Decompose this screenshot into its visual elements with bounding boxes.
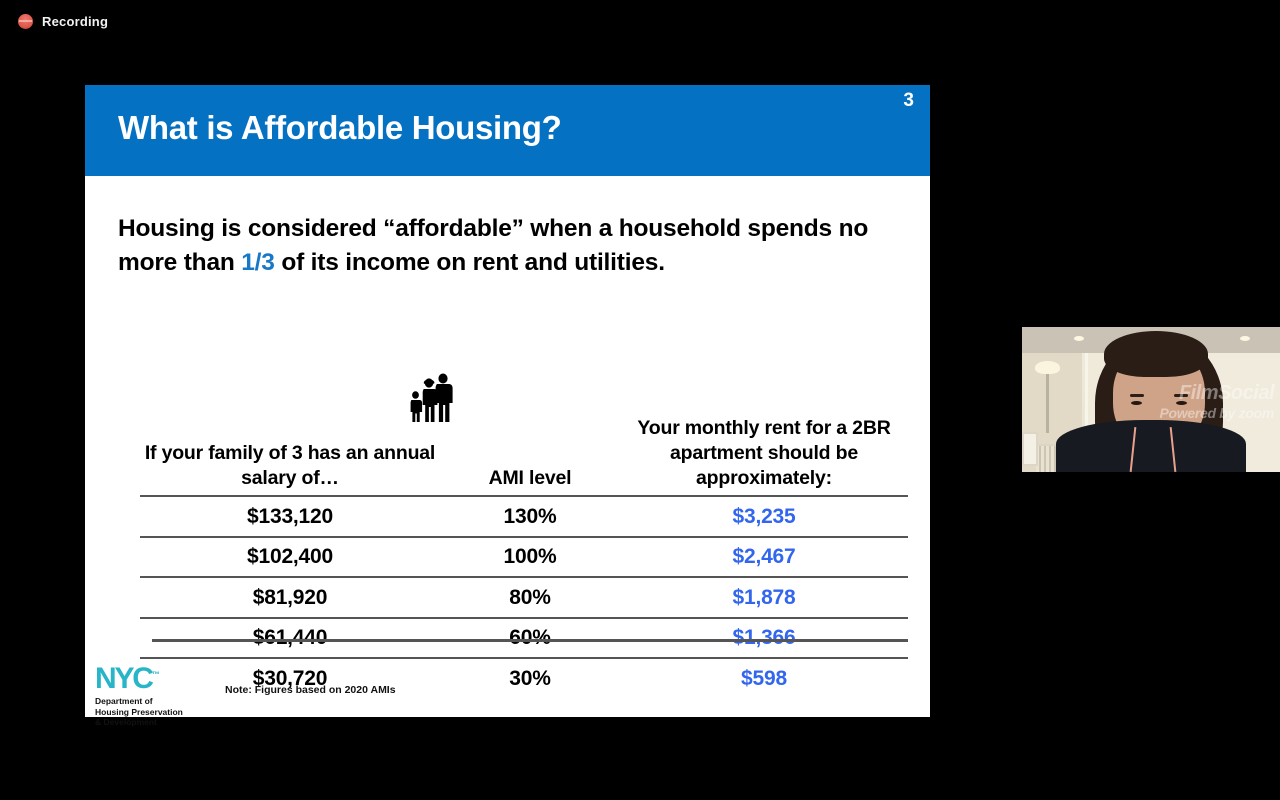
table-row: $81,920 80% $1,878	[140, 577, 908, 618]
table-bottom-rule	[152, 639, 908, 642]
slide-header: What is Affordable Housing? 3	[85, 85, 930, 176]
cell-ami: 80%	[440, 577, 620, 618]
cell-salary: $81,920	[140, 577, 440, 618]
intro-paragraph: Housing is considered “affordable” when …	[118, 212, 888, 280]
cell-rent: $2,467	[620, 537, 908, 578]
nyc-logo-department: Department of Housing Preservation & Dev…	[95, 696, 215, 728]
dept-line-2: Housing Preservation	[95, 707, 215, 718]
participant-hair-top	[1104, 331, 1208, 377]
nyc-logo-text: NYC	[95, 662, 152, 695]
nyc-hpd-logo: NYC™ Department of Housing Preservation …	[95, 661, 215, 728]
cell-rent: $598	[620, 658, 908, 698]
recording-status-bar: Recording	[0, 0, 1280, 42]
participant-video-tile[interactable]: FilmSocial Powered by zoom	[1022, 327, 1280, 472]
table-row: $133,120 130% $3,235	[140, 496, 908, 537]
participant-torso	[1056, 420, 1246, 472]
affordability-table: If your family of 3 has an annual salary…	[140, 416, 908, 698]
family-silhouette-icon	[403, 372, 459, 422]
table-head: If your family of 3 has an annual salary…	[140, 416, 908, 496]
cell-salary: $102,400	[140, 537, 440, 578]
table-header-row: If your family of 3 has an annual salary…	[140, 416, 908, 496]
cell-salary: $133,120	[140, 496, 440, 537]
intro-highlight-fraction: 1/3	[241, 249, 274, 276]
column-header-rent: Your monthly rent for a 2BR apartment sh…	[620, 416, 908, 496]
cell-rent: $1,878	[620, 577, 908, 618]
slide-title: What is Affordable Housing?	[118, 109, 562, 147]
dept-line-3: & Development	[95, 717, 215, 728]
record-dot-icon	[18, 14, 33, 29]
slide-body: Housing is considered “affordable” when …	[85, 176, 930, 717]
nyc-logo-mark: NYC™	[95, 661, 215, 693]
presentation-slide: What is Affordable Housing? 3 Housing is…	[85, 85, 930, 717]
zoom-presentation-screen: Recording What is Affordable Housing? 3 …	[0, 0, 1280, 800]
recording-label: Recording	[42, 14, 108, 29]
slide-number: 3	[903, 90, 914, 112]
cell-ami: 30%	[440, 658, 620, 698]
cell-ami: 100%	[440, 537, 620, 578]
dept-line-1: Department of	[95, 696, 215, 707]
slide-footnote: Note: Figures based on 2020 AMIs	[225, 684, 396, 696]
table-row: $61,440 60% $1,366	[140, 618, 908, 659]
table-body: $133,120 130% $3,235 $102,400 100% $2,46…	[140, 496, 908, 698]
video-background-lamp	[1046, 371, 1049, 433]
cell-ami: 130%	[440, 496, 620, 537]
column-header-ami: AMI level	[440, 416, 620, 496]
cell-ami: 60%	[440, 618, 620, 659]
video-background-picture-frame	[1022, 432, 1038, 466]
intro-text-part2: of its income on rent and utilities.	[275, 249, 665, 276]
table-row: $102,400 100% $2,467	[140, 537, 908, 578]
cell-rent: $1,366	[620, 618, 908, 659]
column-header-salary: If your family of 3 has an annual salary…	[140, 416, 440, 496]
cell-rent: $3,235	[620, 496, 908, 537]
cell-salary: $61,440	[140, 618, 440, 659]
